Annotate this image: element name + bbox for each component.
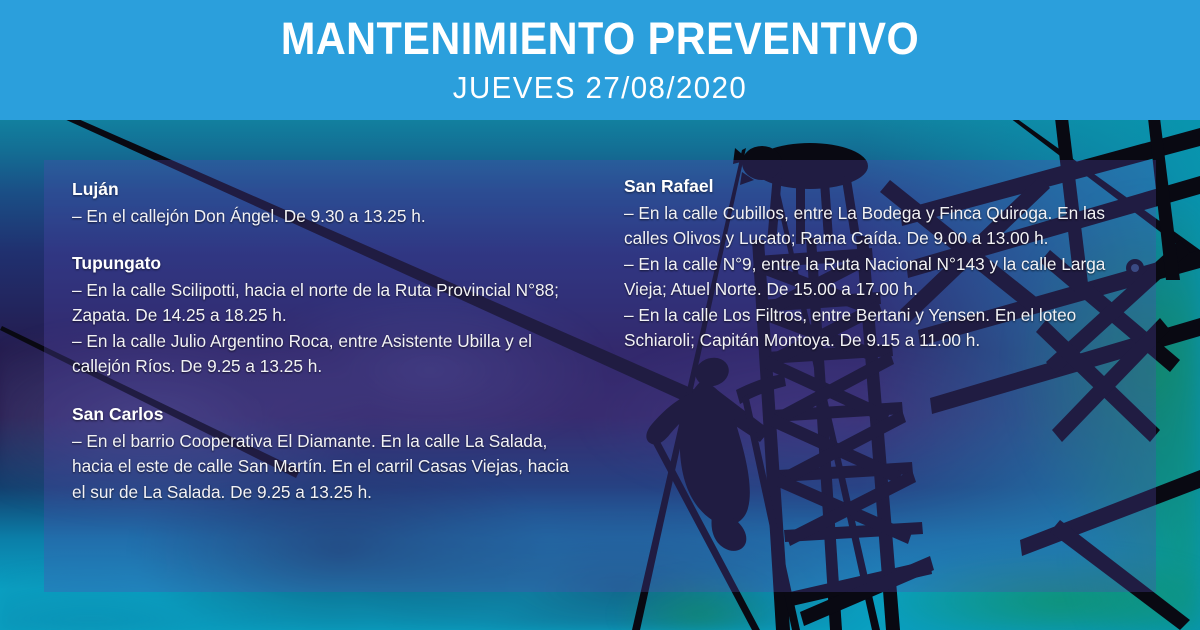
page-title: MANTENIMIENTO PREVENTIVO xyxy=(48,16,1152,61)
locality-entry: – En la calle Scilipotti, hacia el norte… xyxy=(72,278,581,329)
locality-heading: San Rafael xyxy=(624,175,1149,199)
locality-entry: – En la calle Cubillos, entre La Bodega … xyxy=(624,201,1141,252)
locality-entry: – En la calle Los Filtros, entre Bertani… xyxy=(624,303,1141,354)
locality-entry: – En el barrio Cooperativa El Diamante. … xyxy=(72,429,581,506)
locality-entry: – En el callejón Don Ángel. De 9.30 a 13… xyxy=(72,204,581,230)
poster-canvas: MANTENIMIENTO PREVENTIVO JUEVES 27/08/20… xyxy=(0,0,1200,630)
content-columns: Luján – En el callejón Don Ángel. De 9.3… xyxy=(44,160,1156,592)
locality-group-san-carlos: San Carlos – En el barrio Cooperativa El… xyxy=(72,403,589,505)
locality-entry: – En la calle N°9, entre la Ruta Naciona… xyxy=(624,252,1141,303)
header-band: MANTENIMIENTO PREVENTIVO JUEVES 27/08/20… xyxy=(0,0,1200,120)
column-right: San Rafael – En la calle Cubillos, entre… xyxy=(589,160,1149,592)
locality-heading: Luján xyxy=(72,178,589,202)
column-left: Luján – En el callejón Don Ángel. De 9.3… xyxy=(44,160,589,592)
locality-group-tupungato: Tupungato – En la calle Scilipotti, haci… xyxy=(72,252,589,380)
locality-heading: Tupungato xyxy=(72,252,589,276)
locality-group-san-rafael: San Rafael – En la calle Cubillos, entre… xyxy=(624,175,1149,354)
page-subtitle-date: JUEVES 27/08/2020 xyxy=(30,72,1170,103)
locality-group-lujan: Luján – En el callejón Don Ángel. De 9.3… xyxy=(72,178,589,229)
locality-heading: San Carlos xyxy=(72,403,589,427)
locality-entry: – En la calle Julio Argentino Roca, entr… xyxy=(72,329,581,380)
